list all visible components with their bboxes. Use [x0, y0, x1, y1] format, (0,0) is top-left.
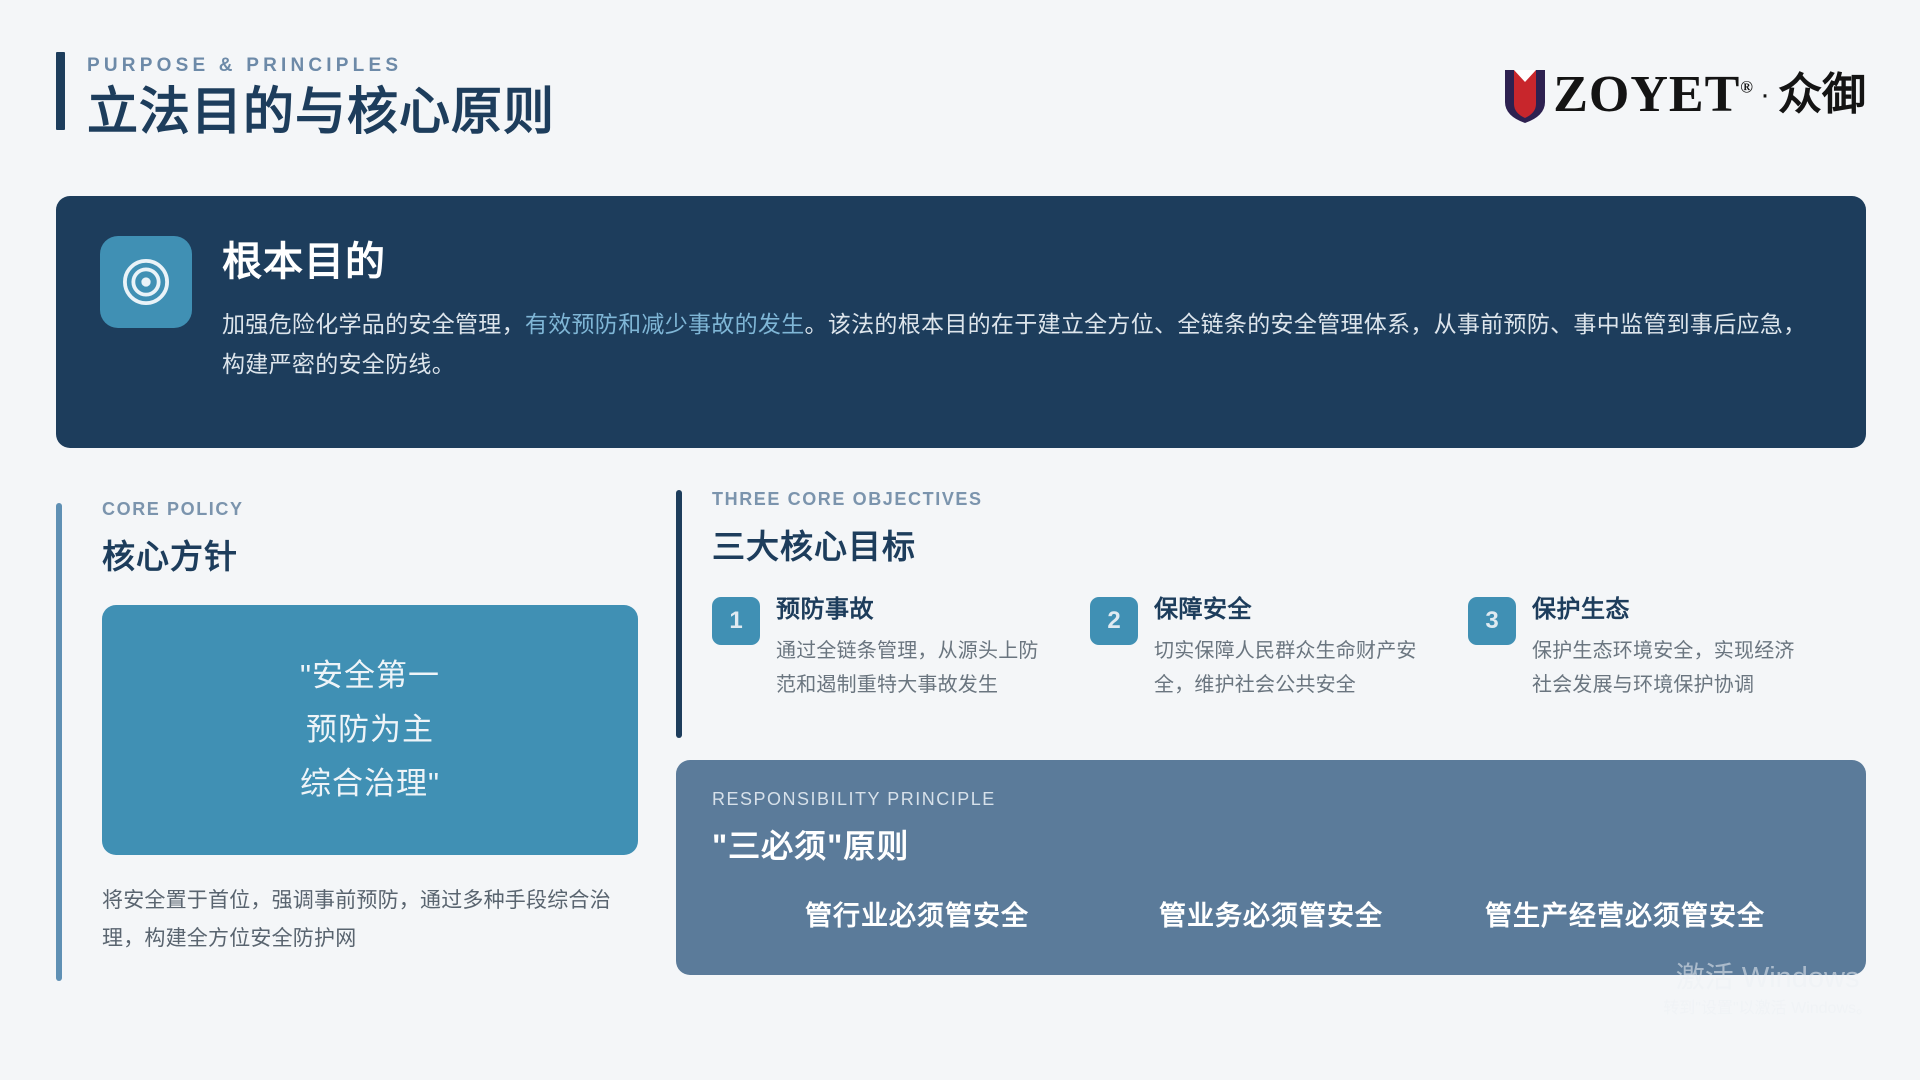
- objective-description: 切实保障人民群众生命财产安全，维护社会公共安全: [1154, 635, 1428, 702]
- responsibility-item: 管行业必须管安全: [740, 894, 1094, 933]
- objective-texts: 保护生态 保护生态环境安全，实现经济社会发展与环境保护协调: [1532, 597, 1806, 703]
- objective-title: 保障安全: [1154, 597, 1428, 623]
- objective-texts: 预防事故 通过全链条管理，从源头上防范和遏制重特大事故发生: [776, 597, 1050, 703]
- core-policy-accent-rail: [56, 503, 62, 981]
- page-title: 立法目的与核心原则: [87, 84, 555, 139]
- hero-body: 根本目的 加强危险化学品的安全管理，有效预防和减少事故的发生。该法的根本目的在于…: [222, 236, 1822, 385]
- logo-chinese: 众御: [1778, 73, 1866, 117]
- logo-wordmark-text: ZOYET: [1553, 66, 1740, 123]
- hero-text-highlight: 有效预防和减少事故的发生: [525, 311, 805, 337]
- hero-paragraph: 加强危险化学品的安全管理，有效预防和减少事故的发生。该法的根本目的在于建立全方位…: [222, 304, 1822, 385]
- objective-description: 保护生态环境安全，实现经济社会发展与环境保护协调: [1532, 635, 1806, 702]
- core-policy-eyebrow: CORE POLICY: [102, 500, 642, 518]
- title-accent-bar: [56, 52, 65, 130]
- responsibility-title: "三必须"原则: [712, 830, 1830, 862]
- responsibility-principle-card: RESPONSIBILITY PRINCIPLE "三必须"原则 管行业必须管安…: [676, 760, 1866, 975]
- objective-number-badge: 3: [1468, 597, 1516, 645]
- page-eyebrow: PURPOSE & PRINCIPLES: [87, 56, 555, 75]
- responsibility-items: 管行业必须管安全 管业务必须管安全 管生产经营必须管安全: [712, 894, 1830, 933]
- hero-title: 根本目的: [222, 240, 1822, 284]
- slide-root: PURPOSE & PRINCIPLES 立法目的与核心原则 ZOYET® · …: [0, 0, 1920, 1080]
- quote-line-2: 预防为主: [306, 703, 434, 757]
- quote-line-3: 综合治理": [300, 757, 440, 811]
- objective-number-badge: 1: [712, 597, 760, 645]
- hero-text-before: 加强危险化学品的安全管理，: [222, 311, 525, 337]
- logo-wordmark: ZOYET®: [1553, 69, 1754, 121]
- objective-description: 通过全链条管理，从源头上防范和遏制重特大事故发生: [776, 635, 1050, 702]
- brand-logo: ZOYET® · 众御: [1503, 64, 1866, 126]
- objective-item: 1 预防事故 通过全链条管理，从源头上防范和遏制重特大事故发生: [712, 597, 1050, 703]
- responsibility-eyebrow: RESPONSIBILITY PRINCIPLE: [712, 790, 1830, 808]
- watermark-line-2: 转到"设置"以激活 Windows。: [1663, 999, 1872, 1020]
- responsibility-item: 管生产经营必须管安全: [1448, 894, 1802, 933]
- objectives-content: THREE CORE OBJECTIVES 三大核心目标 1 预防事故 通过全链…: [712, 490, 1866, 703]
- objective-item: 3 保护生态 保护生态环境安全，实现经济社会发展与环境保护协调: [1468, 597, 1806, 703]
- title-texts: PURPOSE & PRINCIPLES 立法目的与核心原则: [87, 52, 555, 139]
- objective-title: 保护生态: [1532, 597, 1806, 623]
- shield-icon: [1503, 66, 1547, 124]
- logo-separator: ·: [1760, 80, 1770, 110]
- objective-texts: 保障安全 切实保障人民群众生命财产安全，维护社会公共安全: [1154, 597, 1428, 703]
- core-policy-quote-box: "安全第一 预防为主 综合治理": [102, 605, 638, 855]
- fundamental-purpose-card: 根本目的 加强危险化学品的安全管理，有效预防和减少事故的发生。该法的根本目的在于…: [56, 196, 1866, 448]
- registered-mark: ®: [1740, 78, 1754, 97]
- core-policy-content: CORE POLICY 核心方针 "安全第一 预防为主 综合治理" 将安全置于首…: [102, 500, 642, 958]
- objective-number-badge: 2: [1090, 597, 1138, 645]
- core-policy-title: 核心方针: [102, 540, 642, 573]
- objective-item: 2 保障安全 切实保障人民群众生命财产安全，维护社会公共安全: [1090, 597, 1428, 703]
- page-header: PURPOSE & PRINCIPLES 立法目的与核心原则 ZOYET® · …: [56, 52, 1866, 142]
- core-policy-section: CORE POLICY 核心方针 "安全第一 预防为主 综合治理" 将安全置于首…: [56, 500, 646, 1000]
- objectives-title: 三大核心目标: [712, 530, 1866, 563]
- objectives-accent-rail: [676, 490, 682, 738]
- quote-line-1: "安全第一: [300, 649, 440, 703]
- responsibility-item: 管业务必须管安全: [1094, 894, 1448, 933]
- target-icon: [100, 236, 192, 328]
- objectives-eyebrow: THREE CORE OBJECTIVES: [712, 490, 1866, 508]
- core-policy-caption: 将安全置于首位，强调事前预防，通过多种手段综合治理，构建全方位安全防护网: [102, 882, 638, 958]
- objective-title: 预防事故: [776, 597, 1050, 623]
- objectives-grid: 1 预防事故 通过全链条管理，从源头上防范和遏制重特大事故发生 2 保障安全 切…: [712, 597, 1866, 703]
- hero-content: 根本目的 加强危险化学品的安全管理，有效预防和减少事故的发生。该法的根本目的在于…: [100, 236, 1822, 385]
- page-title-block: PURPOSE & PRINCIPLES 立法目的与核心原则: [56, 52, 555, 139]
